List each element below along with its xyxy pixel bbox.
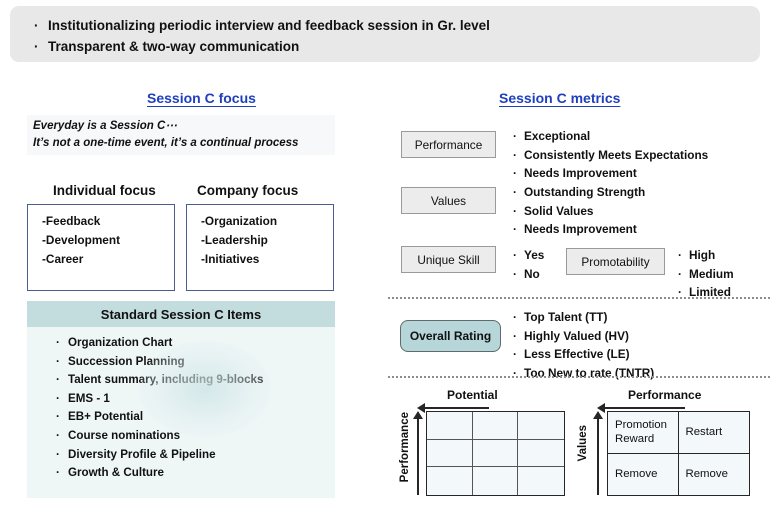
list-item-label: Succession Planning [68,355,185,368]
metric-button-unique-skill[interactable]: Unique Skill [401,246,496,273]
matrix-nine-x-axis-label: Potential [447,388,498,402]
bullet-icon: · [56,334,68,353]
option-item: ·Exceptional [513,127,708,146]
metric-options-unique-skill: ·Yes ·No [513,246,544,283]
list-item: ·EMS - 1 [56,390,335,409]
list-item: ·Organization Chart [56,334,335,353]
section-title-session-c-focus: Session C focus [147,90,256,106]
grid-cell[interactable]: Remove [679,454,750,496]
grid-cell[interactable] [473,467,519,495]
bullet-icon: · [513,265,524,284]
standard-items-header-label: Standard Session C Items [101,307,261,322]
metric-button-promotability[interactable]: Promotability [566,248,665,275]
metric-options-values: ·Outstanding Strength ·Solid Values ·Nee… [513,183,645,239]
section-title-session-c-metrics: Session C metrics [499,90,620,106]
bullet-icon: · [513,246,524,265]
metric-button-performance[interactable]: Performance [401,131,496,158]
option-label: Medium [689,267,734,281]
list-item: ·Talent summary, including 9-blocks [56,371,335,390]
grid-cell[interactable]: PromotionReward [608,412,679,454]
option-label: Needs Improvement [524,166,637,180]
section-divider [388,376,770,378]
grid-cell[interactable] [427,467,473,495]
section-divider [388,297,770,299]
option-label: Needs Improvement [524,222,637,236]
bullet-icon: · [56,408,68,427]
banner-line: ·Institutionalizing periodic interview a… [34,15,760,36]
option-item: ·Highly Valued (HV) [513,327,654,346]
banner-line-text: Institutionalizing periodic interview an… [48,18,490,33]
matrix-four-x-axis-label: Performance [628,388,701,402]
grid-cell[interactable] [427,412,473,440]
quote-line: Everyday is a Session C⋯ [33,118,335,135]
grid-cell[interactable] [518,440,564,468]
bullet-icon: · [56,464,68,483]
quote-box: Everyday is a Session C⋯ It’s not a one-… [27,115,335,155]
quote-line: It’s not a one-time event, it’s a contin… [33,135,335,152]
four-box-grid[interactable]: PromotionReward Restart Remove Remove [607,411,750,496]
grid-cell[interactable]: Restart [679,412,750,454]
option-item: ·Less Effective (LE) [513,345,654,364]
option-label: Solid Values [524,204,594,218]
option-item: ·Outstanding Strength [513,183,645,202]
bullet-icon: · [513,308,524,327]
option-item: ·Solid Values [513,202,645,221]
list-item: ·Diversity Profile & Pipeline [56,446,335,465]
bullet-icon: · [513,164,524,183]
bullet-icon: · [513,364,524,383]
option-item: ·Needs Improvement [513,220,645,239]
company-focus-box: -Organization -Leadership -Initiatives [186,204,334,291]
company-focus-item: -Initiatives [201,250,333,269]
up-arrow-icon [593,411,603,495]
bullet-icon: · [513,146,524,165]
list-item-label: EMS - 1 [68,392,110,405]
list-item-label: Diversity Profile & Pipeline [68,448,216,461]
bullet-icon: · [34,36,48,57]
option-item: ·High [678,246,734,265]
option-label: High [689,248,715,262]
list-item: ·EB+ Potential [56,408,335,427]
grid-cell[interactable] [427,440,473,468]
bullet-icon: · [56,390,68,409]
grid-cell[interactable]: Remove [608,454,679,496]
standard-items-header: Standard Session C Items [27,301,335,327]
up-arrow-icon [413,411,423,495]
option-item: ·Top Talent (TT) [513,308,654,327]
individual-focus-heading: Individual focus [53,183,156,198]
standard-items-list: ·Organization Chart ·Succession Planning… [27,327,335,483]
individual-focus-item: -Career [42,250,174,269]
nine-box-grid[interactable] [426,411,565,496]
list-item: ·Course nominations [56,427,335,446]
standard-session-c-items-box: Standard Session C Items ·Organization C… [27,301,335,498]
grid-cell[interactable] [518,412,564,440]
banner-line-text: Transparent & two-way communication [48,39,299,54]
option-item: ·Needs Improvement [513,164,708,183]
option-label: Less Effective (LE) [524,347,630,361]
bullet-icon: · [34,15,48,36]
grid-cell[interactable] [518,467,564,495]
bullet-icon: · [513,220,524,239]
summary-banner: ·Institutionalizing periodic interview a… [10,6,760,62]
option-label: Exceptional [524,129,590,143]
grid-cell[interactable] [473,440,519,468]
option-item: ·No [513,265,544,284]
bullet-icon: · [513,345,524,364]
metric-button-values[interactable]: Values [401,187,496,214]
option-label: No [524,267,540,281]
option-label: Top Talent (TT) [524,310,607,324]
metric-options-overall-rating: ·Top Talent (TT) ·Highly Valued (HV) ·Le… [513,308,654,382]
banner-line: ·Transparent & two-way communication [34,36,760,57]
list-item-label: EB+ Potential [68,410,143,423]
option-item: ·Too New to rate (TNTR) [513,364,654,383]
list-item-label: Talent summary, including 9-blocks [68,373,263,386]
bullet-icon: · [56,446,68,465]
option-item: ·Yes [513,246,544,265]
bullet-icon: · [56,427,68,446]
company-focus-item: -Leadership [201,231,333,250]
matrix-four-y-axis-label: Values [577,425,589,461]
bullet-icon: · [678,246,689,265]
option-item: ·Consistently Meets Expectations [513,146,708,165]
bullet-icon: · [513,327,524,346]
bullet-icon: · [678,265,689,284]
list-item-label: Course nominations [68,429,180,442]
option-label: Highly Valued (HV) [524,329,629,343]
list-item: ·Succession Planning [56,353,335,372]
metric-options-performance: ·Exceptional ·Consistently Meets Expecta… [513,127,708,183]
list-item-label: Growth & Culture [68,466,164,479]
list-item: ·Growth & Culture [56,464,335,483]
metric-options-promotability: ·High ·Medium ·Limited [678,246,734,302]
list-item-label: Organization Chart [68,336,172,349]
company-focus-heading: Company focus [197,183,298,198]
option-label: Yes [524,248,544,262]
option-item: ·Medium [678,265,734,284]
grid-cell[interactable] [473,412,519,440]
company-focus-item: -Organization [201,212,333,231]
option-label: Consistently Meets Expectations [524,148,708,162]
individual-focus-item: -Feedback [42,212,174,231]
bullet-icon: · [56,353,68,372]
individual-focus-item: -Development [42,231,174,250]
bullet-icon: · [513,183,524,202]
option-label: Outstanding Strength [524,185,645,199]
bullet-icon: · [513,202,524,221]
individual-focus-box: -Feedback -Development -Career [27,204,175,291]
matrix-nine-y-axis-label: Performance [399,412,411,482]
metric-button-overall-rating[interactable]: Overall Rating [400,320,501,352]
bullet-icon: · [513,127,524,146]
bullet-icon: · [56,371,68,390]
